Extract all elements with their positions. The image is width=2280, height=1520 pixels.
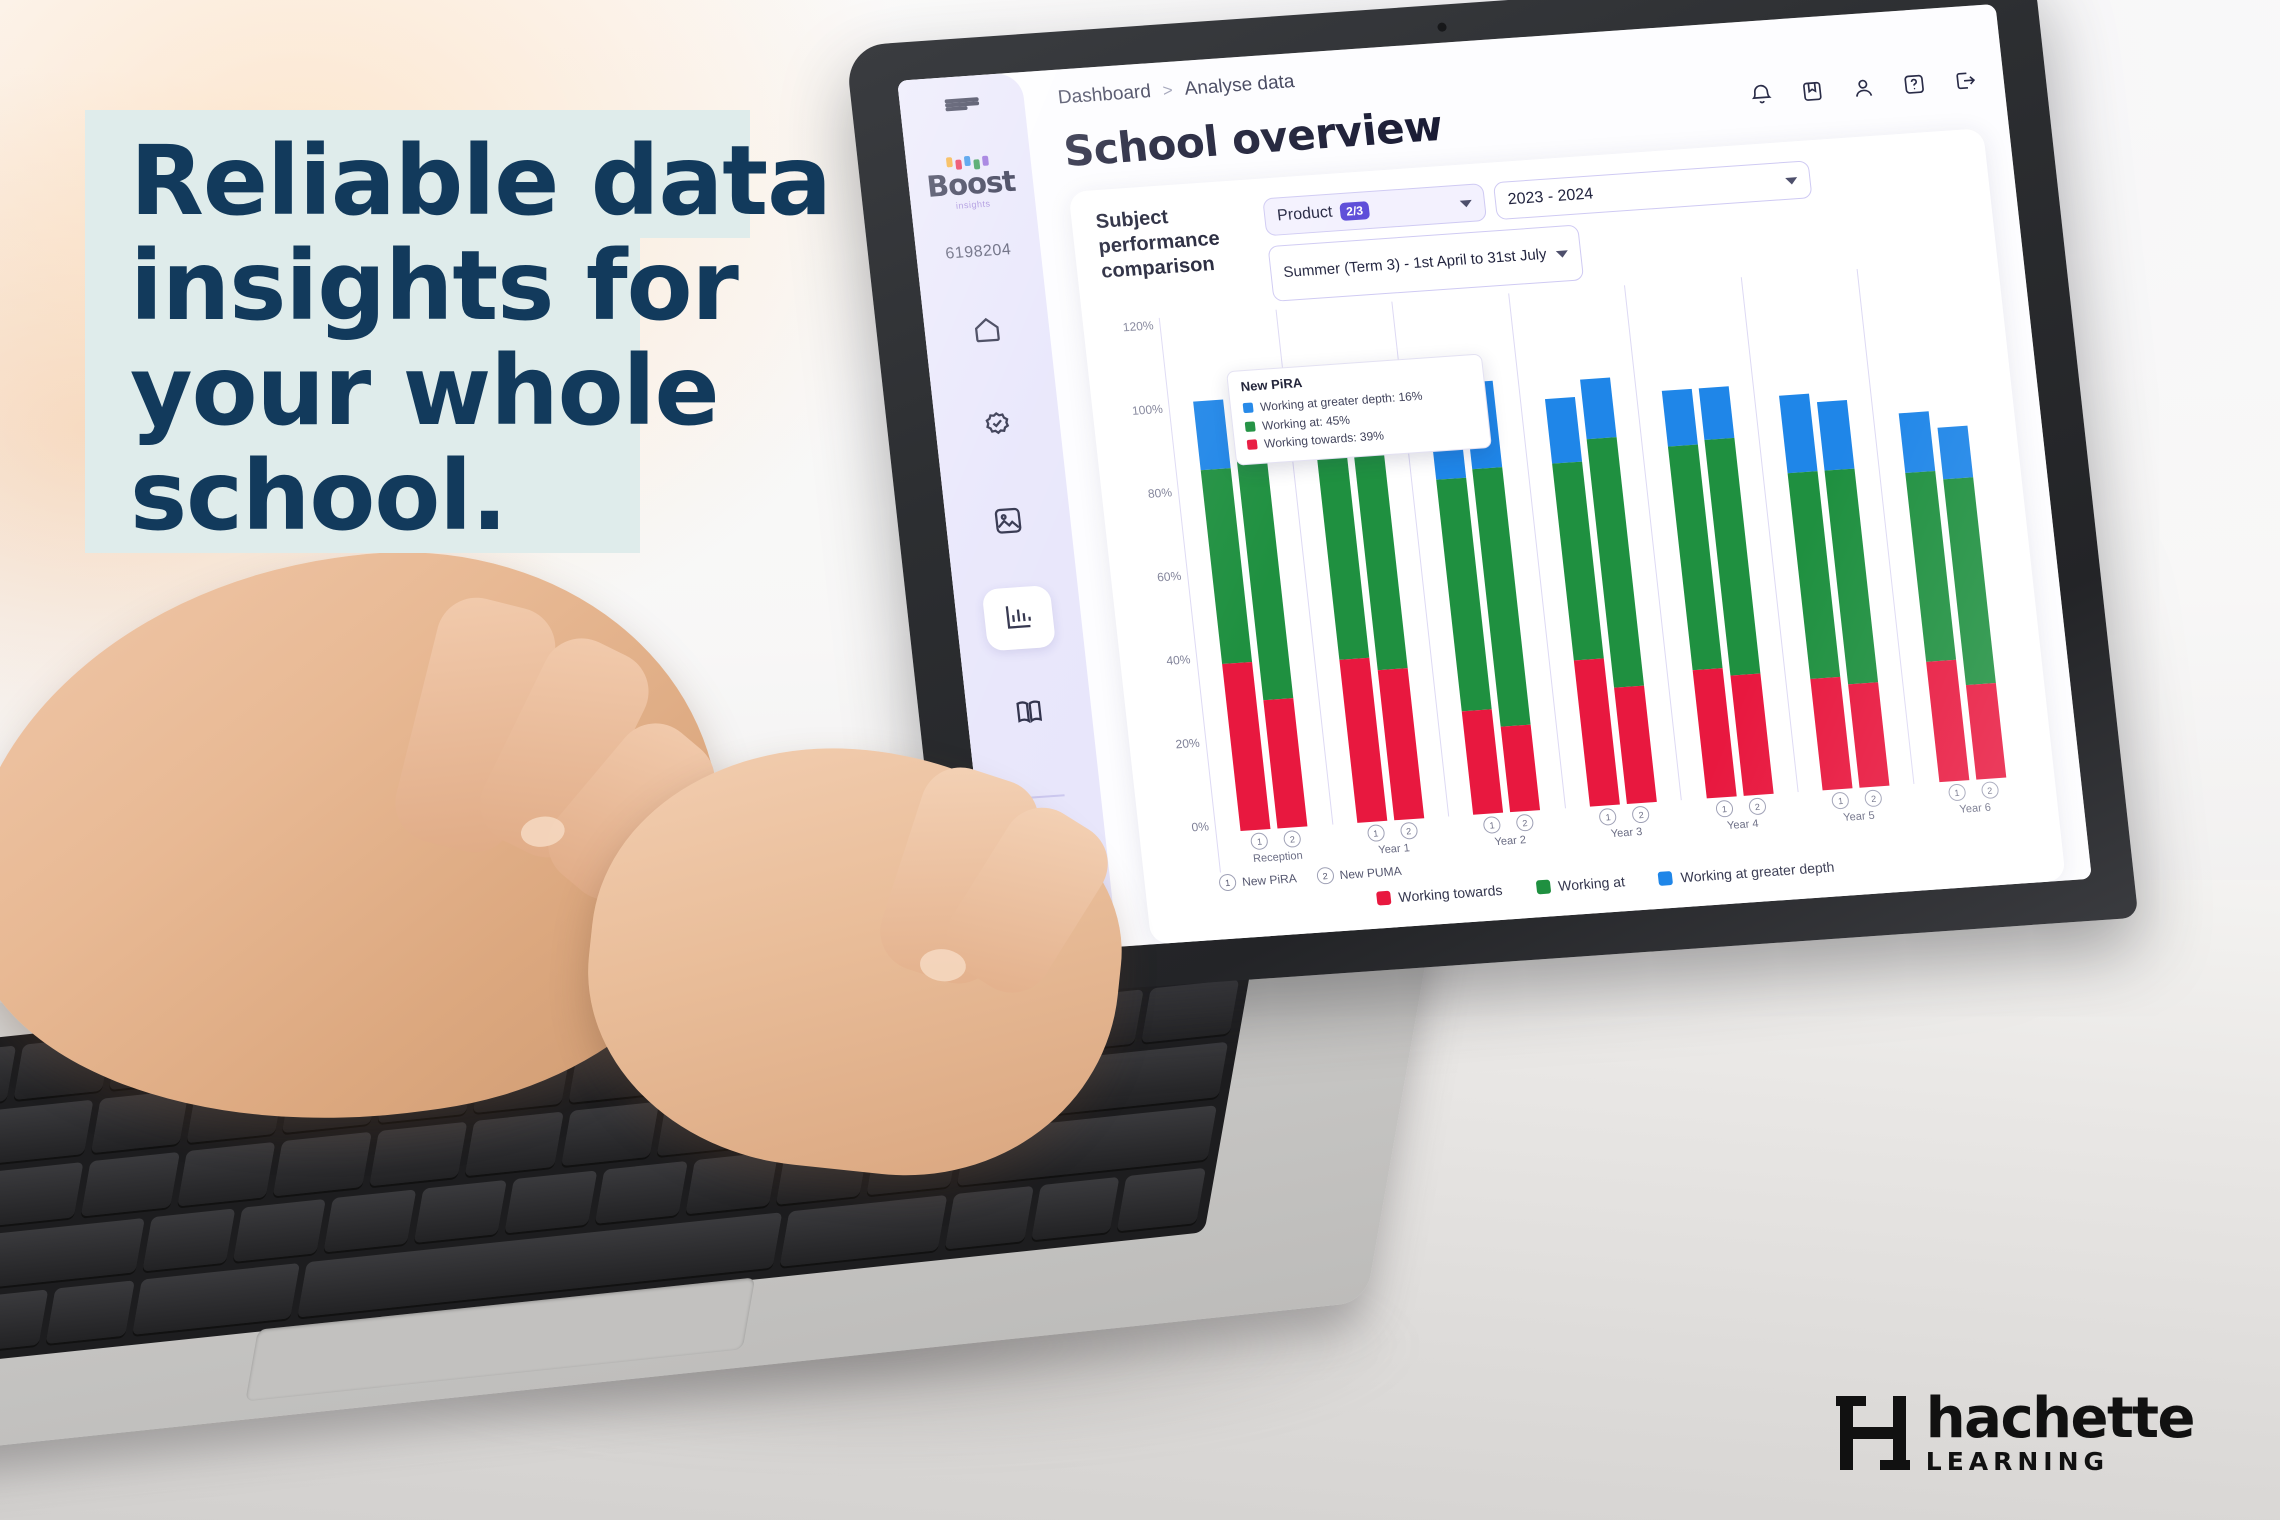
hachette-name: hachette [1926, 1391, 2194, 1447]
book-icon [1011, 694, 1047, 733]
headline-line: Reliable data [130, 132, 880, 231]
series-marker: 1 [1831, 792, 1850, 810]
legend-swatch-greater-depth [1658, 871, 1674, 886]
sidebar-item-home[interactable] [950, 299, 1025, 365]
bar-segment-red [1614, 686, 1657, 804]
product-filter-label: Product [1276, 204, 1333, 226]
series-marker: 2 [1283, 830, 1302, 848]
plot-area: 12Reception12Year 112Year 212Year 312Yea… [1159, 261, 2035, 873]
series-marker: 2 [1864, 789, 1883, 807]
image-share-icon [990, 503, 1026, 542]
breadcrumb-root[interactable]: Dashboard [1057, 81, 1152, 109]
subject-performance-card: Subject performance comparison Product 2… [1068, 128, 2066, 944]
series-markers: 12 [1483, 814, 1535, 834]
x-axis-category: Year 6 [1959, 802, 1992, 816]
bar-segment-red [1692, 668, 1736, 799]
bell-icon[interactable] [1748, 82, 1776, 114]
y-tick: 120% [1107, 318, 1154, 335]
term-filter-label: Summer (Term 3) - 1st April to 31st July [1283, 246, 1548, 282]
series-marker: 2 [1632, 805, 1651, 823]
x-axis-label: 12Year 3 [1565, 800, 1686, 848]
footnote-label: New PUMA [1339, 863, 1402, 881]
academic-year-filter-label: 2023 - 2024 [1507, 185, 1594, 209]
footnote-item: 1 New PiRA [1218, 869, 1297, 891]
x-axis-label: 12Year 5 [1798, 784, 1919, 832]
card-title: Subject performance comparison [1095, 200, 1253, 285]
x-axis-category: Year 4 [1726, 818, 1759, 832]
page-title: School overview [1061, 101, 1445, 176]
bar-chart-icon [1001, 599, 1037, 638]
series-marker: 1 [1250, 832, 1269, 850]
bar-segment-red [1848, 683, 1889, 788]
bar-segment-blue [1698, 386, 1734, 440]
product-filter[interactable]: Product 2/3 [1262, 183, 1487, 236]
tooltip-swatch-working-at [1245, 421, 1256, 432]
bar-segment-red [1926, 660, 1969, 782]
y-tick: 0% [1162, 819, 1209, 836]
sidebar-item-analyse-data[interactable] [981, 585, 1056, 651]
x-axis-category: Reception [1252, 850, 1303, 865]
footnote-item: 2 New PUMA [1316, 862, 1403, 885]
sidebar-item-resources[interactable] [992, 680, 1067, 746]
top-bar-icons [1748, 67, 1980, 113]
badge-check-icon [980, 408, 1016, 447]
footnote-number: 2 [1316, 867, 1335, 885]
tooltip-swatch-greater-depth [1243, 403, 1254, 414]
headline-line-2: insights for [130, 237, 880, 336]
x-axis-label: 12Year 1 [1333, 816, 1454, 864]
series-marker: 1 [1366, 824, 1385, 842]
bar-segment-blue [1580, 377, 1617, 439]
series-marker: 2 [1515, 814, 1534, 832]
series-marker: 2 [1748, 797, 1767, 815]
x-axis-category: Year 5 [1843, 810, 1876, 824]
legend-label: Working towards [1398, 882, 1504, 905]
series-marker: 1 [1599, 808, 1618, 826]
webcam-icon [1437, 22, 1447, 32]
bar-segment-blue [1898, 411, 1935, 473]
y-tick: 100% [1116, 402, 1163, 419]
logout-icon[interactable] [1951, 67, 1979, 99]
legend-item-working-at: Working at [1535, 873, 1625, 895]
hachette-sub: LEARNING [1926, 1449, 2194, 1474]
headline-line: insights for [130, 237, 880, 336]
sidebar-item-assessments[interactable] [960, 394, 1035, 460]
bar-segment-blue [1937, 426, 1973, 480]
x-axis-category: Year 3 [1610, 826, 1643, 840]
series-marker: 1 [1715, 800, 1734, 818]
headline-line: school. [130, 447, 880, 546]
chevron-down-icon [1460, 199, 1473, 207]
bar-segment-red [1730, 674, 1773, 796]
series-marker: 2 [1980, 781, 1999, 799]
x-axis-category: Year 2 [1494, 834, 1527, 848]
school-id: 6198204 [945, 241, 1013, 263]
y-tick: 20% [1153, 736, 1200, 753]
legend-label: Working at [1557, 873, 1625, 894]
bar-segment-blue [1545, 397, 1582, 463]
footnote-number: 1 [1218, 873, 1237, 891]
x-axis-category: Year 1 [1378, 842, 1411, 856]
series-markers: 12 [1599, 805, 1651, 825]
boost-logo: Boost insights [920, 153, 1022, 213]
legend-label: Working at greater depth [1680, 859, 1835, 886]
bar-segment-red [1810, 677, 1852, 791]
laptop-screen: Boost insights 6198204 [897, 4, 2092, 955]
x-axis-label: 12Year 4 [1682, 792, 1803, 840]
sidebar-divider [940, 231, 1012, 236]
help-icon[interactable] [1900, 71, 1928, 103]
series-markers: 12 [1831, 789, 1883, 809]
home-icon [969, 312, 1005, 351]
hachette-wordmark: hachette LEARNING [1926, 1391, 2194, 1474]
product-filter-badge: 2/3 [1339, 201, 1370, 221]
y-tick: 40% [1144, 652, 1191, 669]
series-markers: 12 [1715, 797, 1767, 817]
main-content: Dashboard > Analyse data School overview [1021, 4, 2092, 947]
legend-item-working-towards: Working towards [1376, 882, 1504, 907]
x-axis-label: 12Year 2 [1449, 808, 1570, 856]
sidebar-item-reports[interactable] [971, 490, 1046, 556]
bar-segment-blue [1661, 389, 1697, 447]
bookmark-icon[interactable] [1798, 78, 1826, 110]
hachette-learning-logo: hachette LEARNING [1836, 1391, 2194, 1474]
chart: 120% 100% 80% 60% 40% 20% 0% 12Reception [1107, 261, 2035, 876]
bar-segment-red [1501, 724, 1540, 812]
bar-segment-red [1462, 710, 1503, 815]
breadcrumb-current[interactable]: Analyse data [1184, 71, 1296, 101]
bar-segment-blue [1193, 400, 1231, 471]
academic-year-filter[interactable]: 2023 - 2024 [1493, 160, 1813, 220]
legend-swatch-working-at [1536, 880, 1552, 895]
bar-groups [1160, 261, 2031, 833]
term-filter[interactable]: Summer (Term 3) - 1st April to 31st July [1268, 224, 1585, 301]
series-markers: 12 [1250, 830, 1302, 850]
x-axis-label: 12Year 6 [1914, 776, 2035, 824]
series-markers: 12 [1947, 781, 1999, 801]
legend-item-greater-depth: Working at greater depth [1658, 859, 1835, 887]
footnote-label: New PiRA [1241, 871, 1297, 889]
marketing-headline: Reliable data insights for your whole sc… [130, 132, 880, 552]
headline-line-4: school. [130, 447, 880, 546]
bar-segment-blue [1817, 400, 1855, 471]
hamburger-icon[interactable] [944, 97, 979, 111]
tooltip-swatch-working-towards [1247, 440, 1258, 451]
chevron-down-icon [1556, 250, 1569, 258]
headline-line-1: Reliable data [130, 132, 880, 231]
hachette-h-icon [1836, 1396, 1910, 1470]
chevron-right-icon: > [1162, 81, 1174, 102]
series-markers: 12 [1366, 822, 1418, 842]
bar-segment-blue [1779, 394, 1817, 473]
series-marker: 1 [1947, 783, 1966, 801]
headline-line-3: your whole [130, 342, 880, 441]
user-icon[interactable] [1849, 75, 1877, 107]
y-tick: 60% [1134, 569, 1181, 586]
bar-segment-red [1966, 683, 2006, 779]
series-marker: 1 [1483, 816, 1502, 834]
breadcrumb: Dashboard > Analyse data [1057, 61, 1438, 109]
series-marker: 2 [1399, 822, 1418, 840]
headline-line: your whole [130, 342, 880, 441]
boost-insights-app: Boost insights 6198204 [897, 4, 2092, 955]
chart-tooltip: New PiRA Working at greater depth: 16% W… [1226, 353, 1492, 465]
chevron-down-icon [1785, 177, 1798, 185]
bar-segment-red [1264, 698, 1308, 829]
x-axis-label: 12Reception [1217, 825, 1338, 873]
legend-swatch-working-towards [1376, 891, 1392, 906]
y-tick: 80% [1125, 485, 1172, 502]
